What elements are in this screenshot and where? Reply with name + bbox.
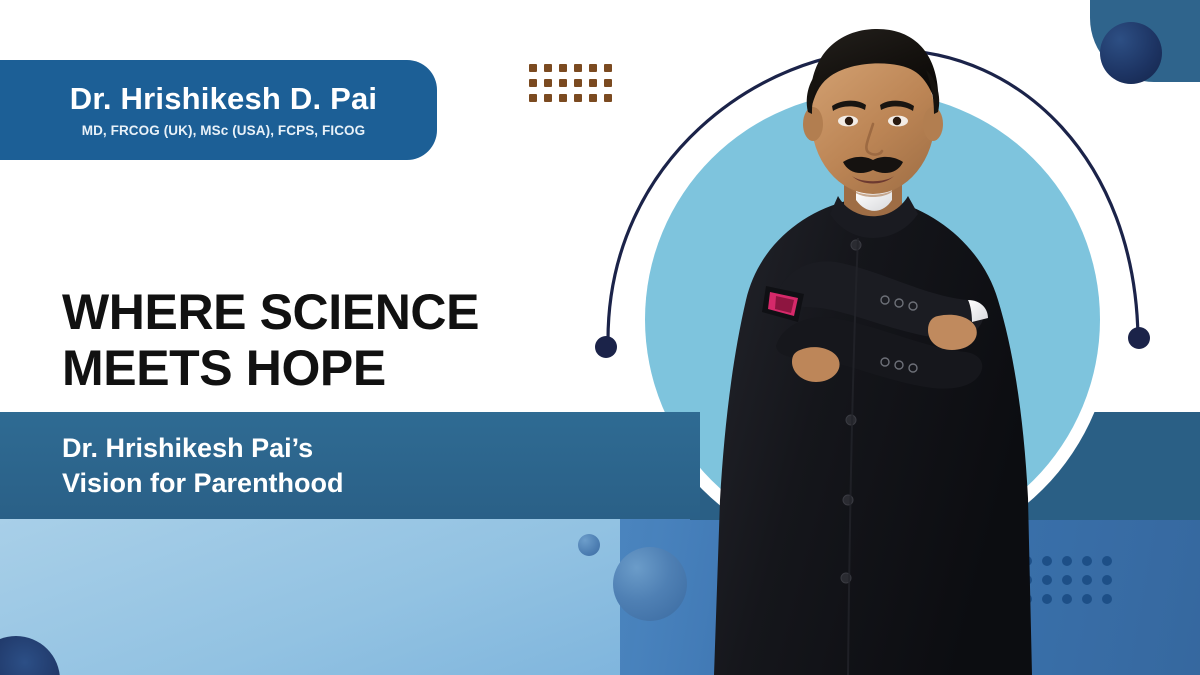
- promo-banner: Dr. Hrishikesh D. Pai MD, FRCOG (UK), MS…: [0, 0, 1200, 675]
- blue-blob-large: [613, 547, 687, 621]
- arc-dot-left: [595, 336, 617, 358]
- arc-dot-right: [1128, 327, 1150, 349]
- doctor-name-badge: Dr. Hrishikesh D. Pai MD, FRCOG (UK), MS…: [0, 60, 437, 160]
- subtitle-text: Dr. Hrishikesh Pai’s Vision for Parentho…: [0, 431, 344, 499]
- doctor-portrait: [680, 0, 1100, 675]
- doctor-credentials: MD, FRCOG (UK), MSc (USA), FCPS, FICOG: [82, 123, 366, 138]
- brown-dot-grid: [529, 64, 612, 102]
- navy-blob-top-right: [1100, 22, 1162, 84]
- doctor-name: Dr. Hrishikesh D. Pai: [70, 82, 377, 116]
- headline-text: WHERE SCIENCE MEETS HOPE: [62, 284, 479, 396]
- blue-blob-small: [578, 534, 600, 556]
- subtitle-band: Dr. Hrishikesh Pai’s Vision for Parentho…: [0, 412, 700, 519]
